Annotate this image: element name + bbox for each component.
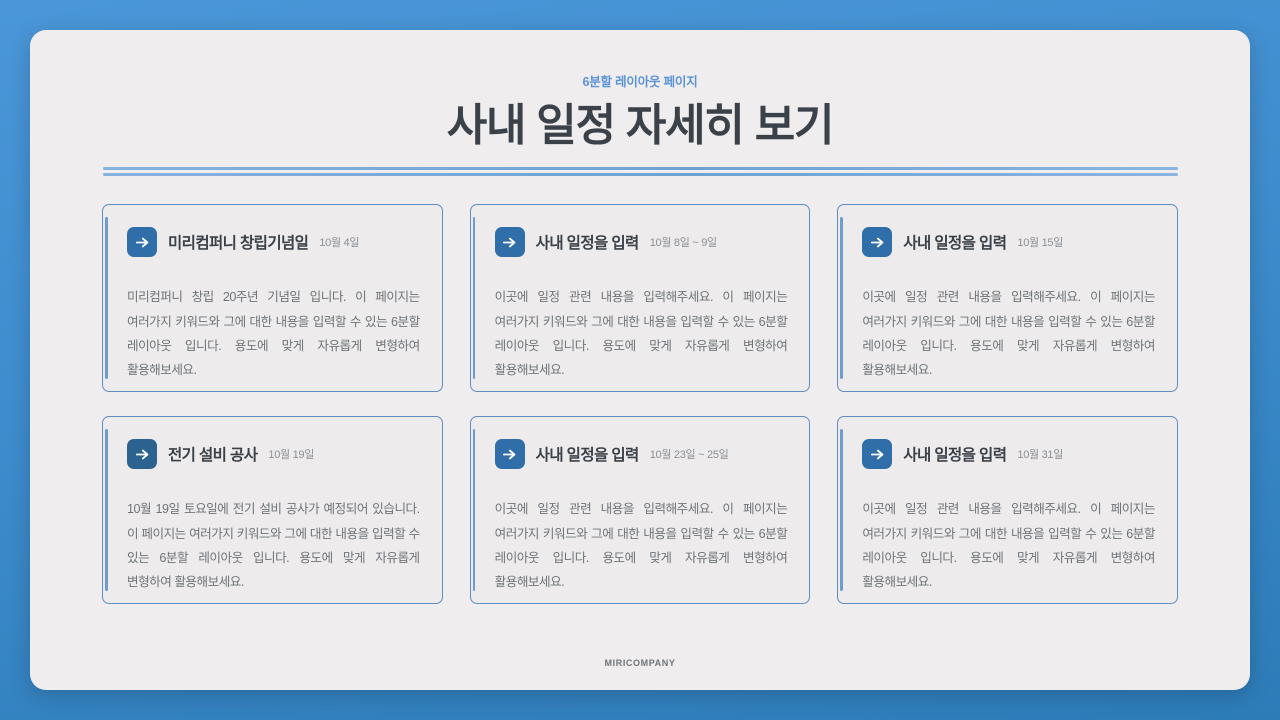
card-title: 사내 일정을 입력: [903, 443, 1006, 465]
arrow-right-icon: [862, 439, 892, 469]
card-title: 사내 일정을 입력: [536, 231, 639, 253]
card-date: 10월 19일: [268, 446, 314, 463]
card-header: 사내 일정을 입력 10월 31일: [862, 439, 1155, 469]
schedule-card[interactable]: 사내 일정을 입력 10월 8일 ~ 9일 이곳에 일정 관련 내용을 입력해주…: [470, 204, 811, 392]
card-header: 미리컴퍼니 창립기념일 10월 4일: [127, 227, 420, 257]
card-date: 10월 8일 ~ 9일: [650, 234, 717, 251]
card-header: 사내 일정을 입력 10월 15일: [862, 227, 1155, 257]
schedule-card[interactable]: 사내 일정을 입력 10월 15일 이곳에 일정 관련 내용을 입력해주세요. …: [837, 204, 1178, 392]
footer-brand: MIRICOMPANY: [30, 658, 1250, 668]
title-divider-line-top: [103, 167, 1178, 170]
page-title: 사내 일정 자세히 보기: [30, 100, 1250, 152]
card-body: 이곳에 일정 관련 내용을 입력해주세요. 이 페이지는 여러가지 키워드와 그…: [495, 497, 788, 594]
eyebrow-label: 6분할 레이아웃 페이지: [30, 76, 1250, 89]
arrow-right-icon: [495, 227, 525, 257]
card-title: 사내 일정을 입력: [903, 231, 1006, 253]
card-date: 10월 4일: [319, 234, 359, 251]
card-body: 이곳에 일정 관련 내용을 입력해주세요. 이 페이지는 여러가지 키워드와 그…: [862, 285, 1155, 382]
arrow-right-icon: [127, 227, 157, 257]
schedule-card[interactable]: 사내 일정을 입력 10월 31일 이곳에 일정 관련 내용을 입력해주세요. …: [837, 416, 1178, 604]
schedule-card[interactable]: 전기 설비 공사 10월 19일 10월 19일 토요일에 전기 설비 공사가 …: [102, 416, 443, 604]
schedule-card[interactable]: 사내 일정을 입력 10월 23일 ~ 25일 이곳에 일정 관련 내용을 입력…: [470, 416, 811, 604]
schedule-card-grid: 미리컴퍼니 창립기념일 10월 4일 미리컴퍼니 창립 20주년 기념일 입니다…: [102, 204, 1178, 604]
slide: 6분할 레이아웃 페이지 사내 일정 자세히 보기 미리컴퍼니 창립기념일 10…: [30, 30, 1250, 690]
card-date: 10월 15일: [1017, 234, 1063, 251]
title-divider-line-bottom: [103, 173, 1178, 176]
card-body: 이곳에 일정 관련 내용을 입력해주세요. 이 페이지는 여러가지 키워드와 그…: [862, 497, 1155, 594]
card-body: 10월 19일 토요일에 전기 설비 공사가 예정되어 있습니다. 이 페이지는…: [127, 497, 420, 594]
card-title: 미리컴퍼니 창립기념일: [168, 231, 308, 253]
card-body: 미리컴퍼니 창립 20주년 기념일 입니다. 이 페이지는 여러가지 키워드와 …: [127, 285, 420, 382]
arrow-right-icon: [862, 227, 892, 257]
arrow-right-icon: [495, 439, 525, 469]
card-title: 사내 일정을 입력: [536, 443, 639, 465]
card-date: 10월 23일 ~ 25일: [650, 446, 729, 463]
arrow-right-icon: [127, 439, 157, 469]
title-divider: [103, 167, 1178, 176]
card-header: 사내 일정을 입력 10월 23일 ~ 25일: [495, 439, 788, 469]
card-date: 10월 31일: [1017, 446, 1063, 463]
card-header: 사내 일정을 입력 10월 8일 ~ 9일: [495, 227, 788, 257]
schedule-card[interactable]: 미리컴퍼니 창립기념일 10월 4일 미리컴퍼니 창립 20주년 기념일 입니다…: [102, 204, 443, 392]
slide-header: 6분할 레이아웃 페이지 사내 일정 자세히 보기: [30, 30, 1250, 176]
card-header: 전기 설비 공사 10월 19일: [127, 439, 420, 469]
card-title: 전기 설비 공사: [168, 443, 257, 465]
card-body: 이곳에 일정 관련 내용을 입력해주세요. 이 페이지는 여러가지 키워드와 그…: [495, 285, 788, 382]
